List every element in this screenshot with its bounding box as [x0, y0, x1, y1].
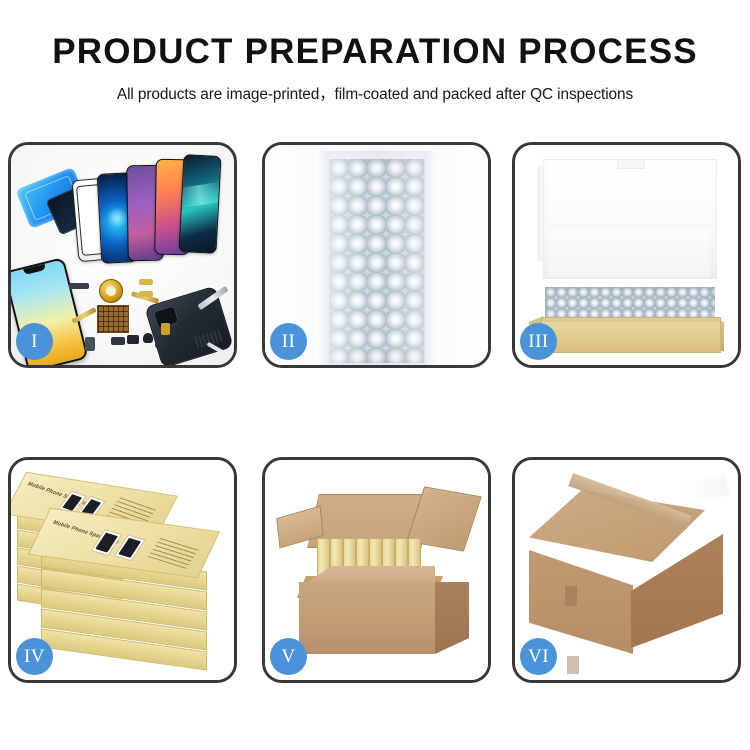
process-step-panel-3[interactable]: III: [512, 142, 741, 368]
sim-tray-part: [111, 337, 125, 345]
process-step-panel-5[interactable]: V: [262, 457, 491, 683]
step-badge-4: IV: [16, 638, 53, 675]
process-step-panel-4[interactable]: Mobile Phone Spare Parts Mobile Phone Sp…: [8, 457, 237, 683]
process-step-panel-2[interactable]: II: [262, 142, 491, 368]
page-title: PRODUCT PREPARATION PROCESS: [0, 34, 750, 71]
carton-front-panel: [299, 582, 435, 654]
step-badge-2: II: [270, 323, 307, 360]
phone-screen-teal: [178, 154, 221, 254]
antenna-flex-part-a: [139, 279, 153, 285]
camera-module-part: [127, 335, 139, 344]
antenna-flex-part-b: [139, 291, 153, 297]
phone-notch: [23, 264, 46, 275]
step-badge-5: V: [270, 638, 307, 675]
carton-side-panel: [435, 582, 469, 654]
process-step-panel-1[interactable]: I: [8, 142, 237, 368]
wireless-charging-coil-part: [99, 279, 123, 303]
photo-glare: [680, 475, 729, 504]
carton-seam-lower: [567, 656, 579, 674]
page-subtitle: All products are image-printed，film-coat…: [0, 82, 750, 104]
bubble-grid: [329, 159, 425, 363]
box-front-panel: [541, 317, 721, 353]
battery-connector-part: [161, 323, 170, 335]
process-step-grid: I II III: [8, 142, 742, 683]
home-button-part: [155, 341, 163, 349]
vibrator-motor-part: [143, 333, 153, 343]
header: PRODUCT PREPARATION PROCESS All products…: [0, 0, 750, 104]
step-badge-3: III: [520, 323, 557, 360]
pouch-edge-right: [424, 151, 439, 365]
pouch-edge-left: [315, 151, 330, 365]
loudspeaker-part: [85, 337, 95, 351]
screen-fan-group: [73, 153, 223, 283]
foam-sheet: [547, 225, 711, 277]
carton-seam-upper: [565, 586, 577, 606]
connector-chip-part: [97, 305, 129, 333]
box-spec-lines-front: [148, 535, 201, 569]
step-badge-1: I: [16, 323, 53, 360]
step-badge-6: VI: [520, 638, 557, 675]
bubble-wrap-pouch: [315, 151, 439, 365]
bubble-wrapped-contents: [545, 287, 715, 321]
process-step-panel-6[interactable]: VI: [512, 457, 741, 683]
earpiece-speaker-part: [69, 283, 89, 289]
